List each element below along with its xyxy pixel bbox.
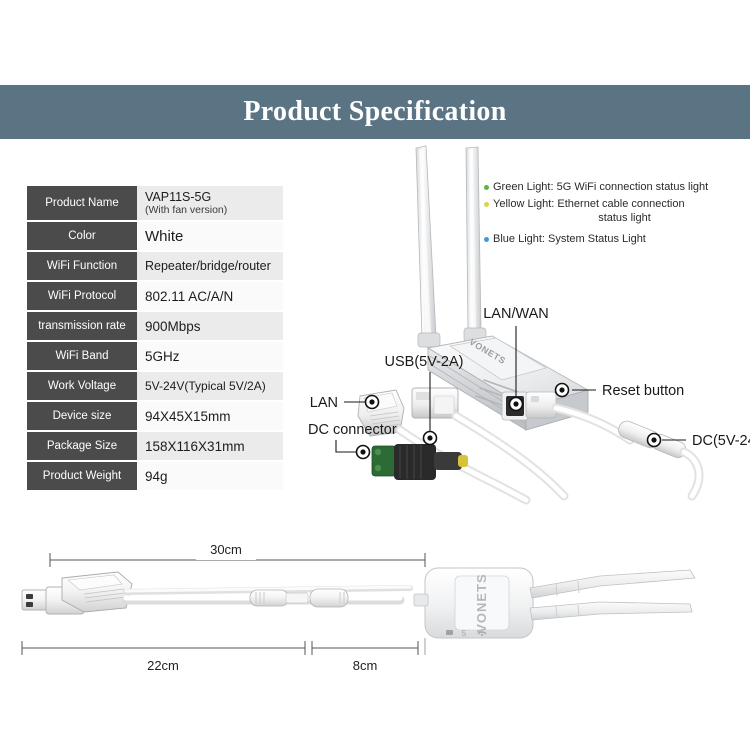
spec-value-product-weight: 94g [137, 462, 283, 490]
specification-table: Product Name VAP11S-5G (With fan version… [27, 184, 283, 492]
page-header-bar: Product Specification [0, 85, 750, 139]
table-row: WiFi Function Repeater/bridge/router [27, 252, 283, 280]
power-led-icon: 5 [462, 629, 467, 638]
dc-connector-terminal [372, 444, 468, 480]
spec-label-product-name: Product Name [27, 186, 137, 220]
antenna-left-base [418, 333, 440, 347]
table-row: Color White [27, 222, 283, 250]
ethernet-led-icon [446, 630, 453, 635]
callout-label-dc-connector: DC connector [308, 422, 397, 438]
table-row: transmission rate 900Mbps [27, 312, 283, 340]
antenna-right-icon [466, 147, 481, 332]
spec-label-wifi-band: WiFi Band [27, 342, 137, 370]
dimension-diagram: 30cm [0, 520, 750, 690]
callout-label-lan: LAN [310, 395, 338, 411]
dimension-cable-22cm: 22cm [22, 641, 305, 673]
spec-value-color: White [137, 222, 283, 250]
product-photo-upper: VONETS [300, 140, 750, 510]
brand-logo-lower: VONETS [474, 573, 489, 632]
dimension-total-30cm: 30cm [50, 542, 425, 567]
dc-inline-connector-b [310, 589, 348, 607]
table-row: Product Weight 94g [27, 462, 283, 490]
spec-value-transmission-rate: 900Mbps [137, 312, 283, 340]
dimension-label-total: 30cm [210, 542, 242, 557]
spec-label-work-voltage: Work Voltage [27, 372, 137, 400]
spec-label-wifi-protocol: WiFi Protocol [27, 282, 137, 310]
spec-label-package-size: Package Size [27, 432, 137, 460]
callout-label-dc-input: DC(5V-24V) [692, 433, 750, 449]
callout-label-lan-wan: LAN/WAN [483, 306, 549, 322]
spec-label-transmission-rate: transmission rate [27, 312, 137, 340]
spec-value-subtext: (With fan version) [145, 204, 279, 216]
spec-value-work-voltage: 5V-24V(Typical 5V/2A) [137, 372, 283, 400]
spec-value-wifi-band: 5GHz [137, 342, 283, 370]
router-device-lower: VONETS 5 [414, 568, 533, 638]
table-row: Package Size 158X116X31mm [27, 432, 283, 460]
spec-label-wifi-function: WiFi Function [27, 252, 137, 280]
dimension-label-cable: 22cm [147, 658, 179, 673]
spec-label-device-size: Device size [27, 402, 137, 430]
device-side-port [414, 594, 428, 606]
spec-value-wifi-function: Repeater/bridge/router [137, 252, 283, 280]
dimension-label-dc: 8cm [353, 658, 378, 673]
spec-value-wifi-protocol: 802.11 AC/A/N [137, 282, 283, 310]
table-row: Product Name VAP11S-5G (With fan version… [27, 186, 283, 220]
antenna-left-icon [416, 146, 436, 338]
rj45-connector-lower [62, 572, 132, 612]
antenna-upper-lower-diagram [530, 570, 695, 598]
specification-table-body: Product Name VAP11S-5G (With fan version… [27, 186, 283, 490]
antenna-lower-lower-diagram [530, 602, 692, 620]
spec-value-device-size: 94X45X15mm [137, 402, 283, 430]
callout-label-reset-button: Reset button [602, 383, 684, 399]
callout-label-usb: USB(5V-2A) [385, 354, 464, 370]
ethernet-plug-right [526, 392, 556, 418]
table-row: Work Voltage 5V-24V(Typical 5V/2A) [27, 372, 283, 400]
table-row: WiFi Band 5GHz [27, 342, 283, 370]
spec-label-product-weight: Product Weight [27, 462, 137, 490]
spec-value-product-name: VAP11S-5G (With fan version) [137, 186, 283, 220]
svg-text:VONETS: VONETS [474, 573, 489, 632]
spec-value-package-size: 158X116X31mm [137, 432, 283, 460]
page-title: Product Specification [243, 96, 506, 128]
spec-value-text: VAP11S-5G [145, 190, 211, 204]
table-row: WiFi Protocol 802.11 AC/A/N [27, 282, 283, 310]
dimension-dc-8cm: 8cm [312, 641, 418, 673]
usb-plug [412, 388, 458, 418]
spec-label-color: Color [27, 222, 137, 250]
table-row: Device size 94X45X15mm [27, 402, 283, 430]
